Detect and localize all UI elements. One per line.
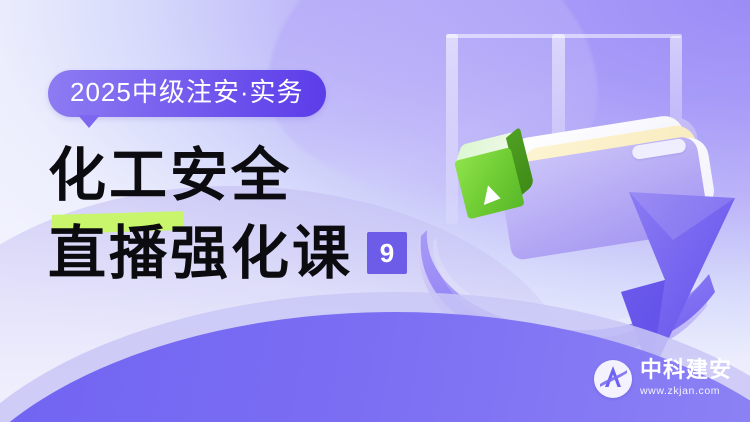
banner-content: 2025中级注安·实务 化工安全 直播强化课 9 [48,70,468,285]
logo-text-group: 中科建安 www.zkjan.com [640,359,732,398]
bottom-band [0,292,750,422]
brand-url: www.zkjan.com [640,384,732,398]
page-title: 化工安全 直播强化课 9 [48,143,468,285]
title-line-1: 化工安全 [48,143,468,207]
brand-name: 中科建安 [640,359,732,383]
title-line-2: 直播强化课 9 [48,221,468,285]
zkjan-circle-logo-icon [594,360,632,398]
course-category-label: 2025中级注安·实务 [48,70,326,117]
episode-badge: 9 [367,232,407,274]
course-category-badge: 2025中级注安·实务 [48,70,326,117]
title-line-2-text: 直播强化课 [48,221,353,285]
badge-pointer [78,115,100,128]
logo-mark-svg [594,360,632,398]
course-banner: 2025中级注安·实务 化工安全 直播强化课 9 中科建安 www.zkjan.… [0,0,750,422]
play-icon [484,185,503,208]
brand-logo[interactable]: 中科建安 www.zkjan.com [594,359,732,398]
